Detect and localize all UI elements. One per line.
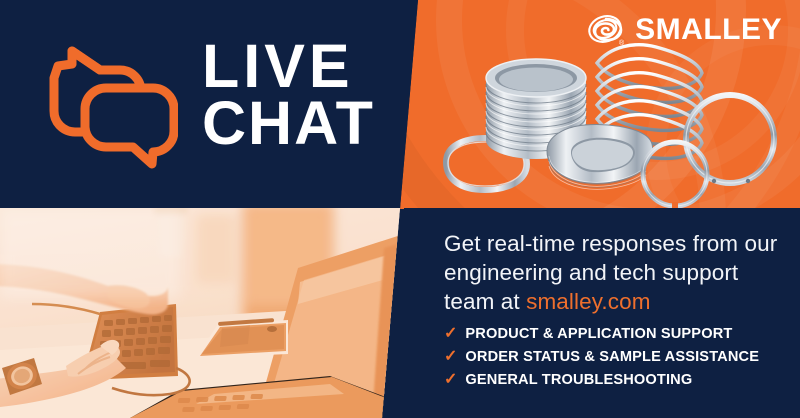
promo-copy-panel: Get real-time responses from our enginee…	[404, 208, 800, 418]
office-keyboard-photo	[0, 208, 404, 418]
live-chat-title: LIVE CHAT	[202, 38, 375, 153]
list-item: ✓ ORDER STATUS & SAMPLE ASSISTANCE	[444, 349, 759, 365]
list-item-label: GENERAL TROUBLESHOOTING	[465, 373, 692, 388]
office-keyboard-photo-illustration	[0, 208, 404, 418]
list-item-label: ORDER STATUS & SAMPLE ASSISTANCE	[465, 350, 759, 365]
check-icon: ✓	[444, 349, 457, 365]
list-item: ✓ PRODUCT & APPLICATION SUPPORT	[444, 326, 759, 342]
smalley-spiral-ring-mark: ®	[586, 12, 626, 48]
registered-trademark-symbol: ®	[619, 39, 625, 47]
check-icon: ✓	[444, 326, 457, 342]
list-item: ✓ GENERAL TROUBLESHOOTING	[444, 372, 759, 388]
benefits-list: ✓ PRODUCT & APPLICATION SUPPORT ✓ ORDER …	[444, 326, 759, 395]
live-chat-promo-banner: ® SMALLEY LIVE CHAT	[0, 0, 800, 418]
smalley-website-link[interactable]: smalley.com	[526, 289, 650, 314]
smalley-logo[interactable]: ® SMALLEY	[586, 12, 782, 48]
live-chat-title-line-1: LIVE	[202, 38, 375, 95]
headline: Get real-time responses from our enginee…	[444, 230, 794, 316]
live-chat-speech-bubbles-icon	[38, 33, 178, 175]
snap-ring	[643, 142, 707, 208]
list-item-label: PRODUCT & APPLICATION SUPPORT	[465, 327, 732, 342]
single-turn-wave-spring	[547, 124, 653, 189]
live-chat-title-line-2: CHAT	[202, 95, 375, 152]
product-photo-panel: ® SMALLEY	[396, 0, 800, 209]
smalley-wordmark: SMALLEY	[635, 15, 782, 45]
check-icon: ✓	[444, 372, 457, 388]
live-chat-title-panel: LIVE CHAT	[0, 0, 420, 209]
